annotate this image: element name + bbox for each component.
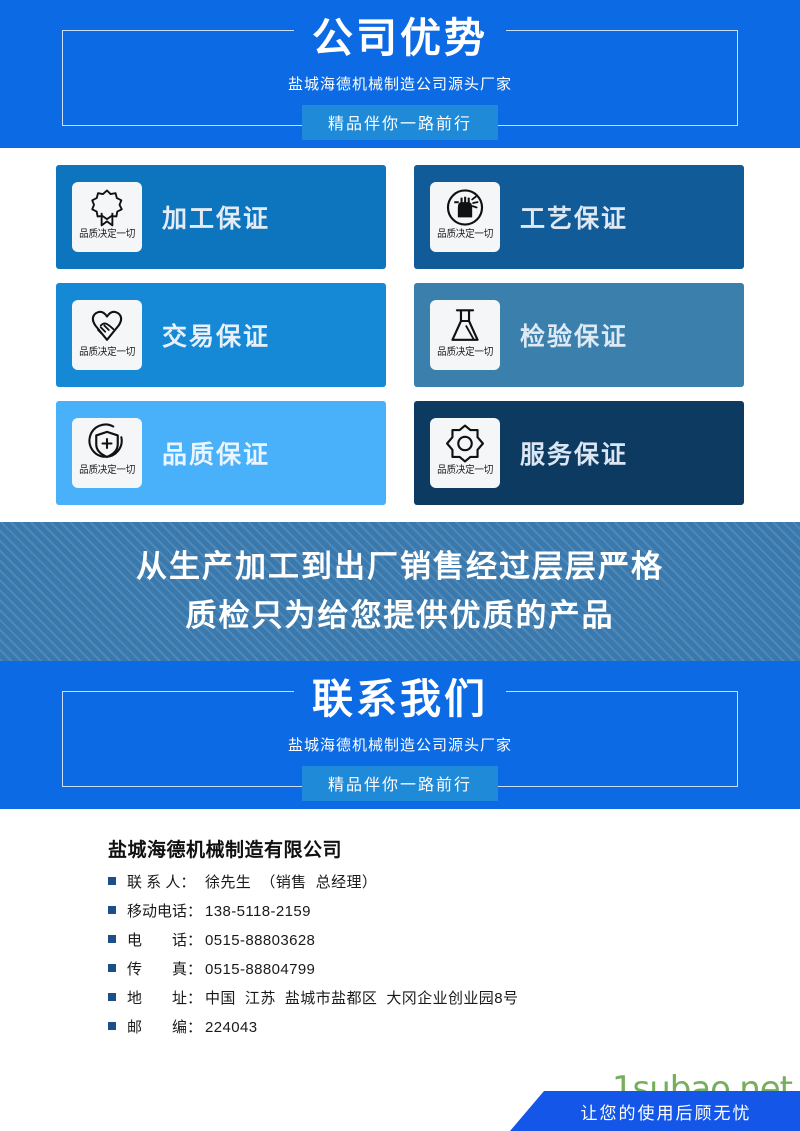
shield-plus-icon (85, 422, 129, 465)
card-icon-caption: 品质决定一切 (437, 230, 493, 240)
feature-card-trade[interactable]: 品质决定一切 交易保证 (56, 283, 386, 387)
page-footer: 1subao.net 让您的使用后顾无忧 (0, 1085, 800, 1131)
contact-row: 地 址： 中国 江苏 盐城市盐都区 大冈企业创业园8号 (108, 987, 800, 1008)
card-icon-tile: 品质决定一切 (430, 418, 500, 488)
bullet-square-icon (108, 964, 116, 972)
feature-card-grid: 品质决定一切 加工保证 品质决定一切 工艺保证 (0, 148, 800, 505)
feature-card-title: 服务保证 (520, 435, 628, 471)
bullet-square-icon (108, 935, 116, 943)
feature-card-craft[interactable]: 品质决定一切 工艺保证 (414, 165, 744, 269)
contact-label: 移动电话： (127, 900, 205, 921)
contact-banner-content: 联系我们 盐城海德机械制造公司源头厂家 精品伴你一路前行 (0, 661, 800, 809)
contact-label: 联 系 人： (127, 871, 205, 892)
flask-icon (443, 304, 487, 347)
contact-value: 0515-88804799 (205, 961, 315, 978)
card-icon-tile: 品质决定一切 (72, 182, 142, 252)
slogan-band: 从生产加工到出厂销售经过层层严格 质检只为给您提供优质的产品 (0, 522, 800, 661)
contact-value: 中国 江苏 盐城市盐都区 大冈企业创业园8号 (205, 987, 518, 1008)
slogan-line-1: 从生产加工到出厂销售经过层层严格 (136, 543, 664, 591)
card-icon-tile: 品质决定一切 (72, 300, 142, 370)
footer-banner: 让您的使用后顾无忧 (510, 1091, 800, 1131)
contact-label: 电 话： (127, 929, 205, 950)
feature-card-processing[interactable]: 品质决定一切 加工保证 (56, 165, 386, 269)
bullet-square-icon (108, 993, 116, 1001)
bullet-square-icon (108, 1022, 116, 1030)
contact-label: 地 址： (127, 987, 205, 1008)
promo-page: 公司优势 盐城海德机械制造公司源头厂家 精品伴你一路前行 品质决定一切 加工保证 (0, 0, 800, 1131)
advantages-tagline-wrap: 精品伴你一路前行 (0, 105, 800, 148)
contact-row: 邮 编： 224043 (108, 1016, 800, 1037)
feature-card-service[interactable]: 品质决定一切 服务保证 (414, 401, 744, 505)
gear-icon (443, 422, 487, 465)
slogan-line-2: 质检只为给您提供优质的产品 (186, 592, 615, 640)
medal-ribbon-icon (85, 186, 129, 229)
contact-banner: 联系我们 盐城海德机械制造公司源头厂家 精品伴你一路前行 (0, 661, 800, 809)
contact-value: 138-5118-2159 (205, 903, 311, 920)
footer-text: 让您的使用后顾无忧 (559, 1099, 752, 1124)
card-icon-caption: 品质决定一切 (437, 466, 493, 476)
advantages-banner-content: 公司优势 盐城海德机械制造公司源头厂家 精品伴你一路前行 (0, 0, 800, 148)
card-icon-caption: 品质决定一切 (79, 230, 135, 240)
contact-tagline-wrap: 精品伴你一路前行 (0, 766, 800, 809)
contact-value: 徐先生 （销售 总经理） (205, 871, 377, 892)
feature-card-title: 加工保证 (162, 199, 270, 235)
contact-value: 224043 (205, 1019, 257, 1036)
contact-tagline: 精品伴你一路前行 (302, 766, 498, 801)
contact-details: 盐城海德机械制造有限公司 联 系 人： 徐先生 （销售 总经理） 移动电话： 1… (0, 809, 800, 1037)
advantages-title: 公司优势 (294, 0, 506, 62)
fist-hand-icon (443, 186, 487, 229)
feature-card-title: 品质保证 (162, 435, 270, 471)
feature-card-title: 检验保证 (520, 317, 628, 353)
advantages-tagline: 精品伴你一路前行 (302, 105, 498, 140)
card-icon-caption: 品质决定一切 (79, 466, 135, 476)
card-icon-caption: 品质决定一切 (437, 348, 493, 358)
advantages-subtitle: 盐城海德机械制造公司源头厂家 (0, 73, 800, 94)
contact-label: 邮 编： (127, 1016, 205, 1037)
card-icon-tile: 品质决定一切 (72, 418, 142, 488)
bullet-square-icon (108, 877, 116, 885)
contact-subtitle: 盐城海德机械制造公司源头厂家 (0, 734, 800, 755)
contact-value: 0515-88803628 (205, 932, 315, 949)
company-name: 盐城海德机械制造有限公司 (108, 835, 800, 862)
feature-card-inspection[interactable]: 品质决定一切 检验保证 (414, 283, 744, 387)
contact-title: 联系我们 (294, 661, 506, 723)
feature-card-quality[interactable]: 品质决定一切 品质保证 (56, 401, 386, 505)
feature-card-title: 工艺保证 (520, 199, 628, 235)
advantages-banner: 公司优势 盐城海德机械制造公司源头厂家 精品伴你一路前行 (0, 0, 800, 148)
contact-label: 传 真： (127, 958, 205, 979)
feature-card-title: 交易保证 (162, 317, 270, 353)
contact-row: 电 话： 0515-88803628 (108, 929, 800, 950)
handshake-heart-icon (85, 304, 129, 347)
bullet-square-icon (108, 906, 116, 914)
card-icon-caption: 品质决定一切 (79, 348, 135, 358)
card-icon-tile: 品质决定一切 (430, 182, 500, 252)
contact-row: 联 系 人： 徐先生 （销售 总经理） (108, 871, 800, 892)
card-icon-tile: 品质决定一切 (430, 300, 500, 370)
contact-row: 传 真： 0515-88804799 (108, 958, 800, 979)
contact-row: 移动电话： 138-5118-2159 (108, 900, 800, 921)
